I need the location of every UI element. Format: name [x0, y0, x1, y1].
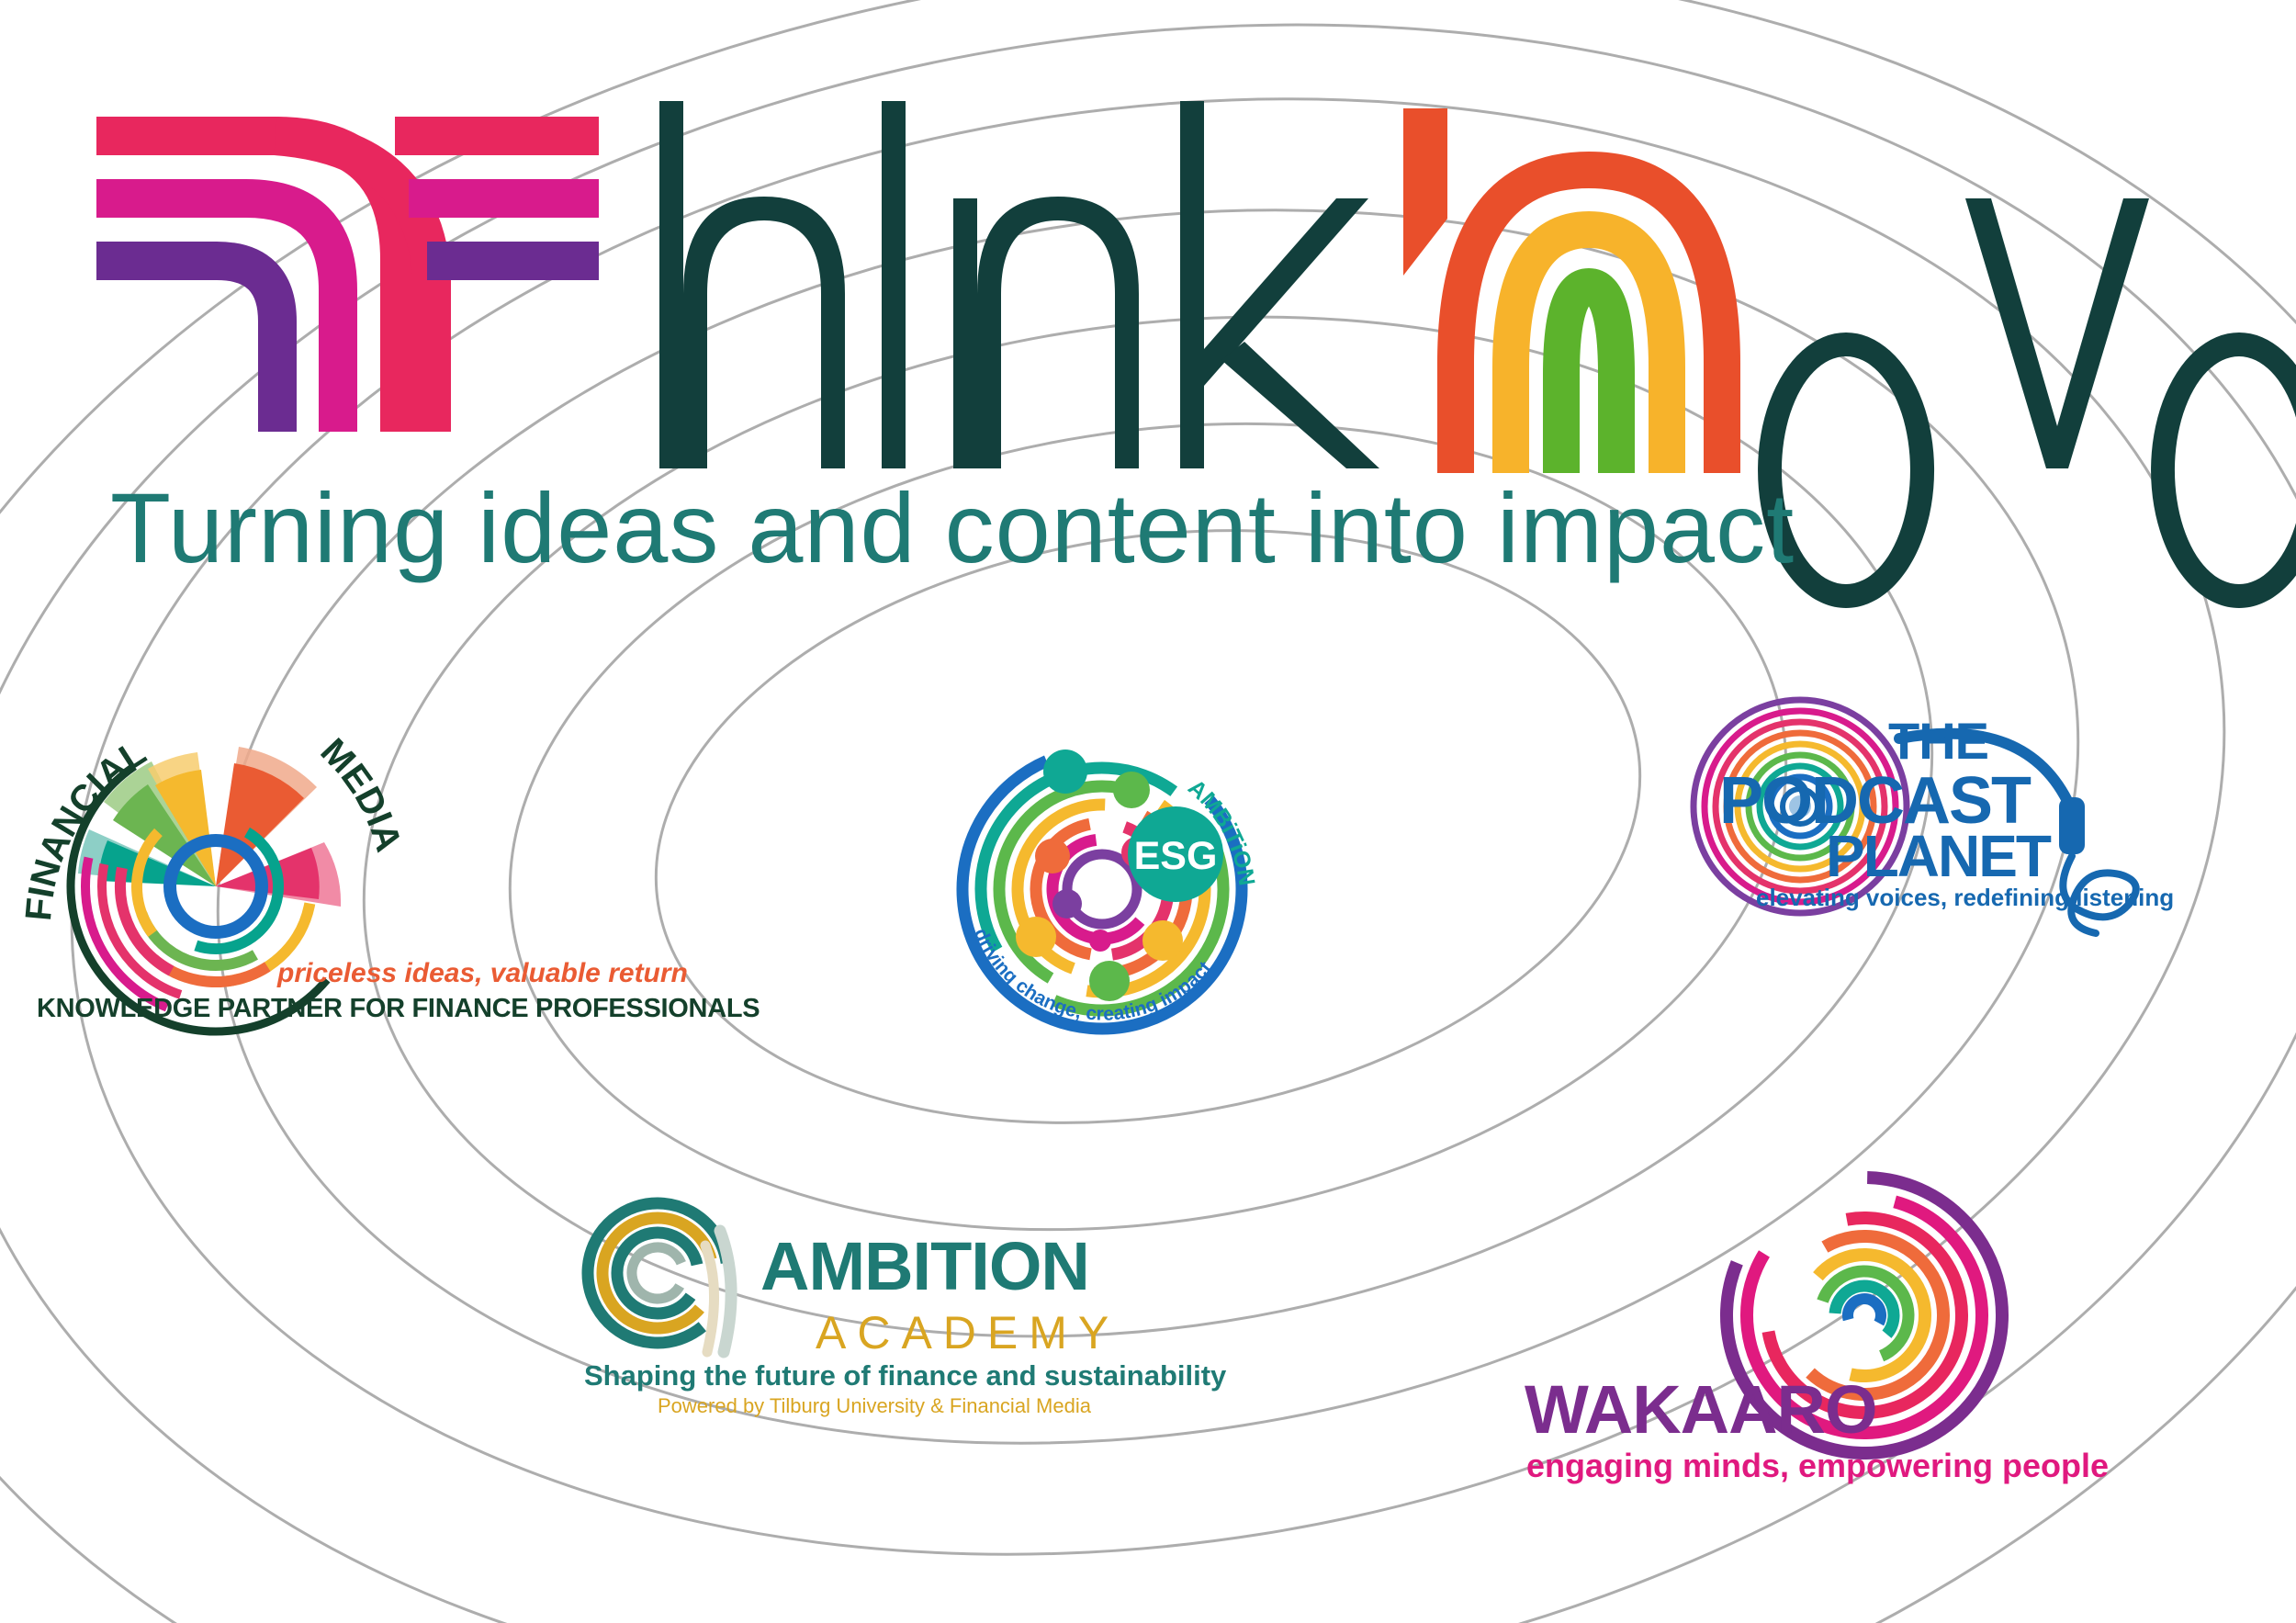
t-letter-mark — [96, 136, 432, 432]
ambition-academy-line-2: ACADEMY — [816, 1307, 1120, 1358]
podcast-planet-line-1: THE — [1888, 712, 1988, 770]
brand-lockup: Turning ideas and content into impact — [0, 0, 2296, 606]
ambition-academy-tagline: Shaping the future of finance and sustai… — [584, 1359, 1227, 1392]
partner-logo-ambition-academy[interactable]: AMBITION ACADEMY Shaping the future of f… — [579, 1194, 1130, 1433]
financial-media-descriptor: KNOWLEDGE PARTNER FOR FINANCE PROFESSION… — [37, 994, 760, 1024]
ambition-academy-credit: Powered by Tilburg University & Financia… — [658, 1394, 1092, 1417]
esg-ambition-mark: ESG AMBiTiON driving change, creating im… — [937, 726, 1295, 1038]
podcast-planet-mark: THE PODCAST PLANET elevating voices, red… — [1690, 689, 2186, 919]
partner-logo-esg-ambition[interactable]: ESG AMBiTiON driving change, creating im… — [937, 726, 1295, 1038]
financial-media-tagline: priceless ideas, valuable return — [277, 958, 688, 989]
esg-badge-label: ESG — [1134, 834, 1218, 878]
brand-tagline: Turning ideas and content into impact — [110, 470, 2223, 585]
podcast-planet-tagline: elevating voices, redefining listening — [1756, 884, 2174, 911]
wakaaro-wordmark: WAKAARO — [1525, 1371, 1877, 1448]
podcast-planet-line-3: PLANET — [1826, 823, 2052, 889]
apostrophe-mark — [1403, 108, 1447, 276]
wakaaro-tagline: engaging minds, empowering people — [1526, 1447, 2109, 1484]
wakaaro-mark: WAKAARO engaging minds, empowering peopl… — [1497, 1176, 2030, 1488]
ambition-academy-mark: AMBITION ACADEMY Shaping the future of f… — [579, 1194, 1130, 1433]
partner-logo-wakaaro[interactable]: WAKAARO engaging minds, empowering peopl… — [1497, 1176, 2030, 1488]
ambition-academy-monogram — [559, 1175, 756, 1371]
partner-logo-financial-media[interactable]: FINANCIAL MEDIA priceless ideas, valuabl… — [37, 698, 753, 1047]
partner-logo-podcast-planet[interactable]: THE PODCAST PLANET elevating voices, red… — [1690, 689, 2186, 919]
financial-media-pie — [11, 682, 420, 1090]
n-rainbow-arch — [1456, 170, 1722, 473]
poster-canvas: Turning ideas and content into impact — [0, 0, 2296, 1623]
ambition-academy-line-1: AMBITION — [760, 1228, 1089, 1304]
thinknova-letters-hink — [659, 101, 1379, 468]
